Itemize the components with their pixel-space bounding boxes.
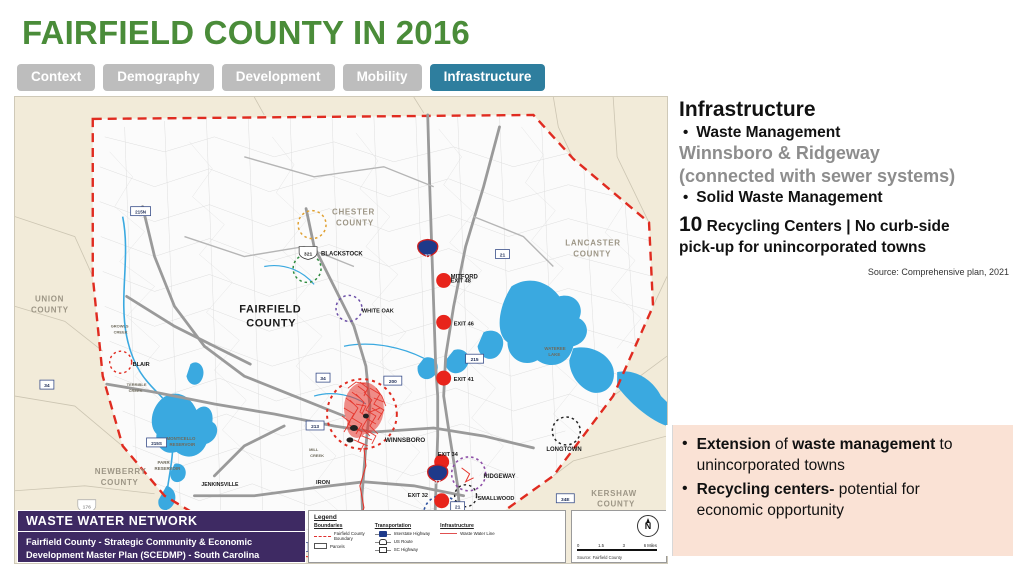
scale-bar: 0 1.5 3 6 Miles [577, 543, 657, 552]
grey-note-line1: Winnsboro & Ridgeway [679, 143, 1017, 165]
map-banner-subtitle-line1: Fairfield County - Strategic Community &… [18, 532, 305, 549]
north-arrow-icon: N [637, 515, 659, 537]
svg-text:UNION: UNION [35, 294, 64, 303]
svg-text:TERRIBLE: TERRIBLE [127, 382, 147, 387]
recycling-stat-number: 10 [679, 213, 702, 236]
sc-highway-shield-icon [375, 547, 391, 553]
takeaways-callout: • Extension of waste management to uninc… [672, 425, 1013, 556]
scale-tick-2: 3 [623, 543, 625, 548]
callout-1-bold2: waste management [792, 436, 935, 453]
legend-label-parcels: Parcels [330, 544, 345, 549]
tab-context[interactable]: Context [17, 64, 95, 91]
svg-text:EXIT 32: EXIT 32 [408, 493, 428, 499]
svg-text:34E: 34E [561, 497, 569, 503]
legend-item-interstate: Interstate Highway [375, 531, 430, 537]
svg-text:MILL: MILL [309, 447, 319, 452]
legend-heading-transportation: Transportation [375, 523, 430, 529]
svg-text:77: 77 [425, 255, 431, 261]
callout-bullet-icon-2: • [682, 480, 688, 498]
svg-text:200: 200 [389, 379, 397, 385]
callout-1-bold1: Extension [697, 436, 771, 453]
callout-item-recycling: • Recycling centers- potential for econo… [682, 480, 1001, 521]
map-banner-subtitle-line2: Development Master Plan (SCEDMP) - South… [18, 549, 305, 562]
callout-item-extension: • Extension of waste management to uninc… [682, 435, 1001, 476]
svg-text:RIDGEWAY: RIDGEWAY [484, 474, 516, 480]
recycling-stat-line1: Recycling Centers | No curb-side [707, 218, 950, 235]
svg-text:WINNSBORO: WINNSBORO [385, 437, 425, 444]
svg-text:SMALLWOOD: SMALLWOOD [478, 496, 515, 502]
legend-item-waste-water-line: Waste Water Line [440, 531, 495, 536]
svg-text:IRON: IRON [316, 480, 330, 486]
svg-text:215S: 215S [151, 441, 162, 446]
map-graphic: FAIRFIELD COUNTY EXIT 48 EXIT 46 EXIT 41… [15, 97, 667, 564]
callout-2-mid1: potential for [834, 481, 919, 498]
legend-label-county-boundary-l2: Boundary [334, 536, 353, 541]
scale-tick-1: 1.5 [598, 543, 604, 548]
svg-text:KERSHAW: KERSHAW [591, 489, 637, 498]
svg-text:EXIT 46: EXIT 46 [454, 321, 474, 327]
panel-source-note: Source: Comprehensive plan, 2021 [679, 267, 1017, 277]
svg-text:321: 321 [304, 252, 313, 258]
svg-text:COUNTY: COUNTY [597, 500, 635, 509]
svg-text:CREEK: CREEK [310, 453, 324, 458]
svg-text:BLAIR: BLAIR [133, 362, 150, 368]
legend-label-waste-water-line: Waste Water Line [460, 531, 495, 536]
svg-text:CREEK: CREEK [129, 388, 143, 393]
bullet-waste-management: • Waste Management [679, 124, 1017, 143]
legend-group-boundaries: Boundaries Fairfield County Boundary Par… [314, 523, 365, 555]
legend-label-sc-highway: SC Highway [394, 547, 418, 552]
svg-text:CREEK: CREEK [114, 329, 128, 334]
interstate-shield-icon [375, 531, 391, 537]
svg-text:77: 77 [435, 480, 441, 486]
svg-text:WHITE OAK: WHITE OAK [362, 308, 394, 314]
svg-text:COUNTY: COUNTY [31, 305, 69, 314]
map-banner-title: WASTE WATER NETWORK [18, 511, 305, 532]
svg-text:21: 21 [500, 253, 506, 259]
svg-text:WATEREE: WATEREE [544, 346, 565, 351]
scale-bar-graphic [577, 549, 657, 552]
bullet-dot-icon-2: • [683, 189, 688, 208]
callout-1-line2: unincorporated towns [697, 457, 845, 474]
bullet-solid-waste-management: • Solid Waste Management [679, 189, 1017, 208]
legend-label-interstate: Interstate Highway [394, 531, 430, 536]
callout-2-line2: economic opportunity [697, 502, 844, 519]
us-route-shield-icon [375, 539, 391, 545]
svg-text:EXIT 34: EXIT 34 [438, 452, 459, 458]
page-title: FAIRFIELD COUNTY IN 2016 [22, 14, 470, 52]
svg-text:MONTICELLO: MONTICELLO [167, 436, 197, 441]
legend-label-us-route: US Route [394, 539, 413, 544]
map-source-note: Source: Fairfield County [577, 555, 622, 560]
parcel-box-icon [314, 543, 327, 549]
svg-text:NEWBERRY: NEWBERRY [95, 467, 147, 476]
map-legend: Legend Boundaries Fairfield County Bound… [308, 510, 566, 563]
legend-title: Legend [314, 514, 560, 521]
svg-text:LANCASTER: LANCASTER [565, 239, 620, 248]
waste-water-network-map[interactable]: FAIRFIELD COUNTY EXIT 48 EXIT 46 EXIT 41… [14, 96, 668, 564]
svg-text:34: 34 [320, 376, 326, 382]
slide-root: FAIRFIELD COUNTY IN 2016 Context Demogra… [0, 0, 1024, 576]
bullet-solid-waste-label: Solid Waste Management [696, 189, 882, 207]
legend-heading-boundaries: Boundaries [314, 523, 365, 529]
svg-text:EXIT 41: EXIT 41 [454, 377, 474, 383]
infrastructure-heading: Infrastructure [679, 98, 1017, 122]
svg-text:34: 34 [44, 383, 50, 389]
right-content-panel: Infrastructure • Waste Management Winnsb… [679, 98, 1017, 277]
scale-tick-3: 6 Miles [644, 543, 657, 548]
callout-1-mid1: of [771, 436, 793, 453]
dashed-red-line-icon [314, 536, 331, 537]
svg-text:215: 215 [471, 357, 479, 363]
callout-2-bold1: Recycling centers- [697, 481, 835, 498]
waste-water-line-icon [440, 533, 457, 534]
recycling-stat: 10 Recycling Centers | No curb-side pick… [679, 212, 1017, 258]
bullet-waste-management-label: Waste Management [696, 124, 840, 142]
svg-text:PARR: PARR [158, 460, 171, 465]
svg-text:MITFORD: MITFORD [451, 274, 479, 280]
svg-text:GROWLS: GROWLS [111, 323, 129, 328]
legend-item-sc-highway: SC Highway [375, 547, 430, 553]
svg-text:215N: 215N [135, 210, 146, 215]
legend-item-parcels: Parcels [314, 543, 365, 549]
tab-demography[interactable]: Demography [103, 64, 214, 91]
legend-item-us-route: US Route [375, 539, 430, 545]
svg-text:CHESTER: CHESTER [332, 208, 375, 217]
legend-item-county-boundary: Fairfield County Boundary [314, 531, 365, 541]
svg-text:213: 213 [311, 424, 319, 430]
legend-heading-infrastructure: Infrastructure [440, 523, 495, 529]
svg-text:BLACKSTOCK: BLACKSTOCK [321, 252, 363, 258]
svg-text:COUNTY: COUNTY [336, 219, 374, 228]
tab-development[interactable]: Development [222, 64, 335, 91]
legend-group-transportation: Transportation Interstate Highway US Rou… [375, 523, 430, 555]
grey-note-line2: (connected with sewer systems) [679, 166, 1017, 188]
map-banner: WASTE WATER NETWORK Fairfield County - S… [17, 510, 306, 563]
tab-infrastructure[interactable]: Infrastructure [430, 64, 546, 91]
svg-text:LONGTOWN: LONGTOWN [546, 447, 581, 453]
svg-text:RESERVOIR: RESERVOIR [155, 466, 182, 471]
recycling-stat-line2: pick-up for unincorporated towns [679, 238, 1017, 257]
svg-text:COUNTY: COUNTY [573, 250, 611, 259]
scale-tick-0: 0 [577, 543, 579, 548]
legend-group-infrastructure: Infrastructure Waste Water Line [440, 523, 495, 555]
svg-text:LAKE: LAKE [548, 352, 560, 357]
map-scale-box: N 0 1.5 3 6 Miles Source: Fairfield Coun… [571, 510, 667, 563]
bullet-dot-icon: • [683, 124, 688, 143]
callout-1-mid2: to [935, 436, 952, 453]
svg-text:JENKINSVILLE: JENKINSVILLE [201, 482, 239, 488]
tab-mobility[interactable]: Mobility [343, 64, 422, 91]
svg-text:RESERVOIR: RESERVOIR [170, 442, 197, 447]
svg-text:FAIRFIELD: FAIRFIELD [239, 303, 301, 315]
section-tabs: Context Demography Development Mobility … [17, 64, 545, 91]
callout-bullet-icon-1: • [682, 435, 688, 453]
svg-text:COUNTY: COUNTY [246, 317, 296, 329]
svg-text:COUNTY: COUNTY [101, 478, 139, 487]
